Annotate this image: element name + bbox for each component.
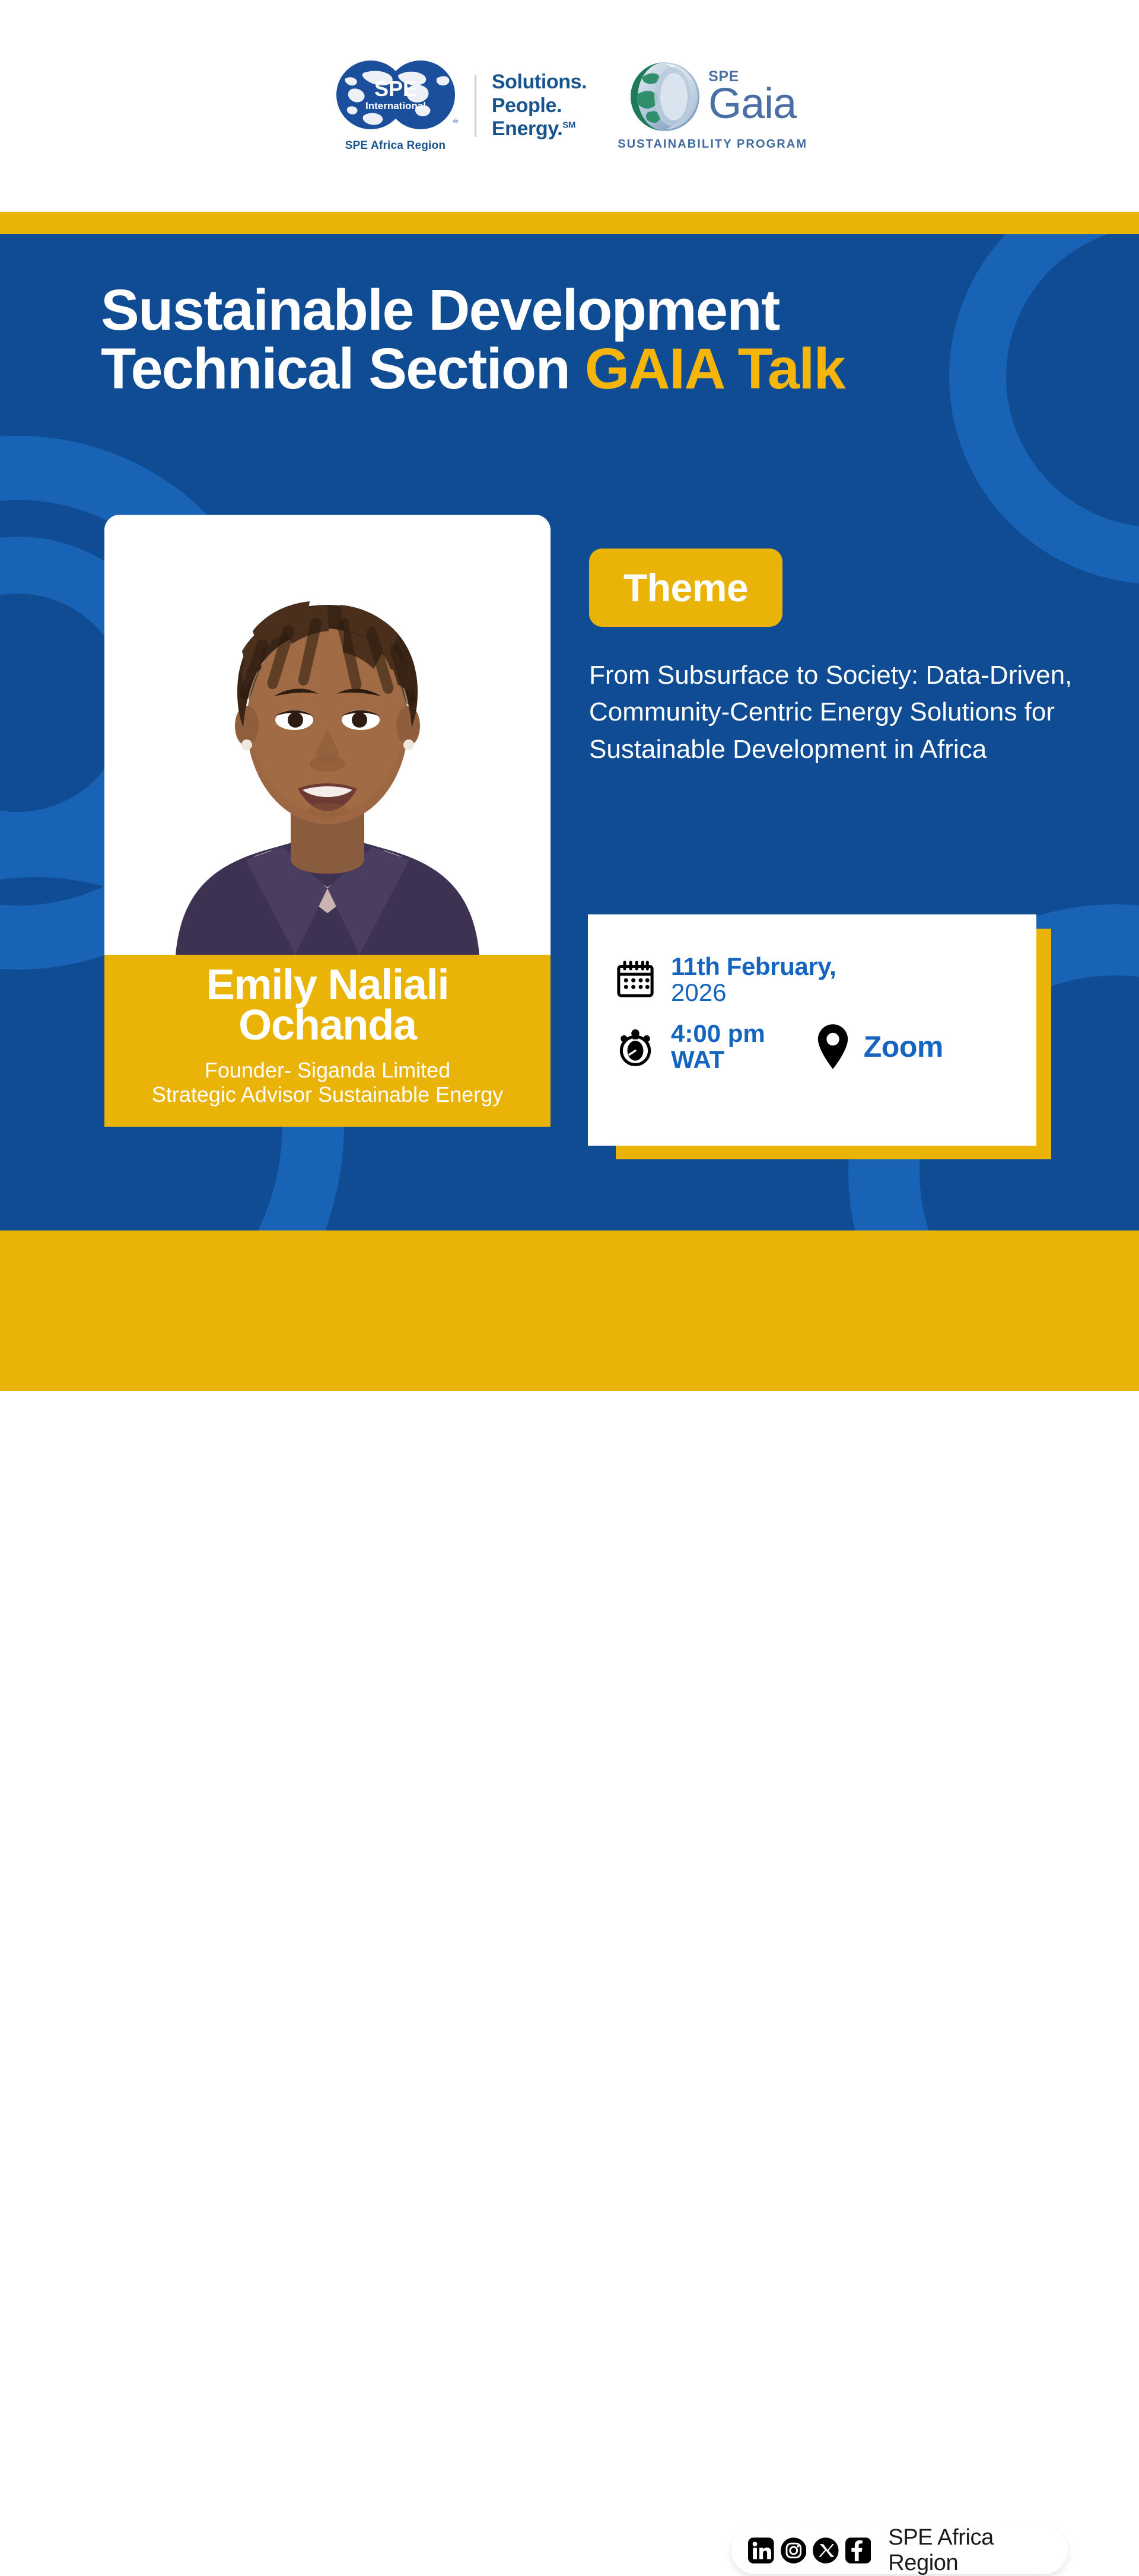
- spe-tagline: Solutions. People. Energy.SM: [492, 71, 587, 141]
- speaker-portrait: [104, 515, 551, 955]
- title-accent: GAIA Talk: [585, 336, 845, 401]
- gaia-subtitle: SUSTAINABILITY PROGRAM: [618, 138, 807, 151]
- theme-badge-label: Theme: [623, 565, 748, 610]
- poster-header: SPE International ® SPE Africa Region So…: [0, 0, 1139, 212]
- speaker-photo-frame: [104, 515, 551, 955]
- poster-footer: SPE Africa Region: [0, 1230, 1139, 1391]
- calendar-icon: [614, 958, 657, 1001]
- gaia-globe-icon: [629, 60, 701, 133]
- event-location-row: Zoom: [816, 1024, 943, 1070]
- speaker-card: Emily Naliali Ochanda Founder- Siganda L…: [104, 515, 551, 1127]
- social-handle-pill[interactable]: SPE Africa Region: [731, 2527, 1068, 2574]
- event-date-strong: 11th February,: [671, 954, 836, 980]
- instagram-icon[interactable]: [781, 2537, 807, 2564]
- tagline-line-2: People.: [492, 94, 587, 117]
- svg-text:SPE: SPE: [374, 76, 417, 101]
- event-location-label: Zoom: [864, 1029, 943, 1064]
- logo-divider: [475, 75, 476, 137]
- x-twitter-icon[interactable]: [813, 2537, 839, 2564]
- theme-text: From Subsurface to Society: Data-Driven,…: [589, 657, 1099, 768]
- event-info-card: 11th February, 2026 4:00 pm WAT: [588, 914, 1036, 1146]
- stopwatch-icon: [614, 1025, 657, 1068]
- tagline-line-1: Solutions.: [492, 71, 587, 94]
- theme-badge: Theme: [589, 549, 782, 627]
- event-time-line-2: WAT: [671, 1047, 765, 1073]
- gaia-name-label: Gaia: [708, 84, 796, 123]
- event-time-line-1: 4:00 pm: [671, 1021, 765, 1047]
- event-date-row: 11th February, 2026: [614, 954, 943, 1005]
- speaker-name-line-2: Ochanda: [113, 1006, 542, 1046]
- spe-globe-mark: SPE International ® SPE Africa Region: [332, 59, 459, 152]
- event-date-year: 2026: [671, 980, 836, 1006]
- social-handle-label: SPE Africa Region: [888, 2525, 1068, 2576]
- title-line-1: Sustainable Development: [101, 281, 1050, 340]
- poster-title: Sustainable Development Technical Sectio…: [101, 281, 1050, 398]
- event-time-row: 4:00 pm WAT: [614, 1021, 765, 1072]
- title-line-2: Technical Section GAIA Talk: [101, 340, 1050, 398]
- top-accent-bar: [0, 212, 1139, 234]
- speaker-role-line-2: Strategic Advisor Sustainable Energy: [113, 1083, 542, 1107]
- map-pin-icon: [816, 1024, 850, 1070]
- service-mark: SM: [562, 120, 575, 130]
- linkedin-icon[interactable]: [748, 2537, 774, 2564]
- facebook-icon[interactable]: [845, 2537, 871, 2564]
- svg-text:®: ®: [453, 118, 458, 125]
- spe-africa-region-label: SPE Africa Region: [345, 139, 446, 152]
- svg-text:International: International: [365, 100, 426, 111]
- speaker-name-line-1: Emily Naliali: [113, 965, 542, 1006]
- speaker-name-band: Emily Naliali Ochanda Founder- Siganda L…: [104, 955, 551, 1127]
- spe-international-logo: SPE International ® SPE Africa Region So…: [332, 59, 587, 152]
- spe-globes-icon: SPE International ®: [332, 59, 459, 135]
- title-line-2-main: Technical Section: [101, 336, 585, 401]
- speaker-role-line-1: Founder- Siganda Limited: [113, 1059, 542, 1082]
- spe-gaia-logo: SPE Gaia SUSTAINABILITY PROGRAM: [618, 60, 807, 151]
- tagline-line-3: Energy.SM: [492, 117, 587, 141]
